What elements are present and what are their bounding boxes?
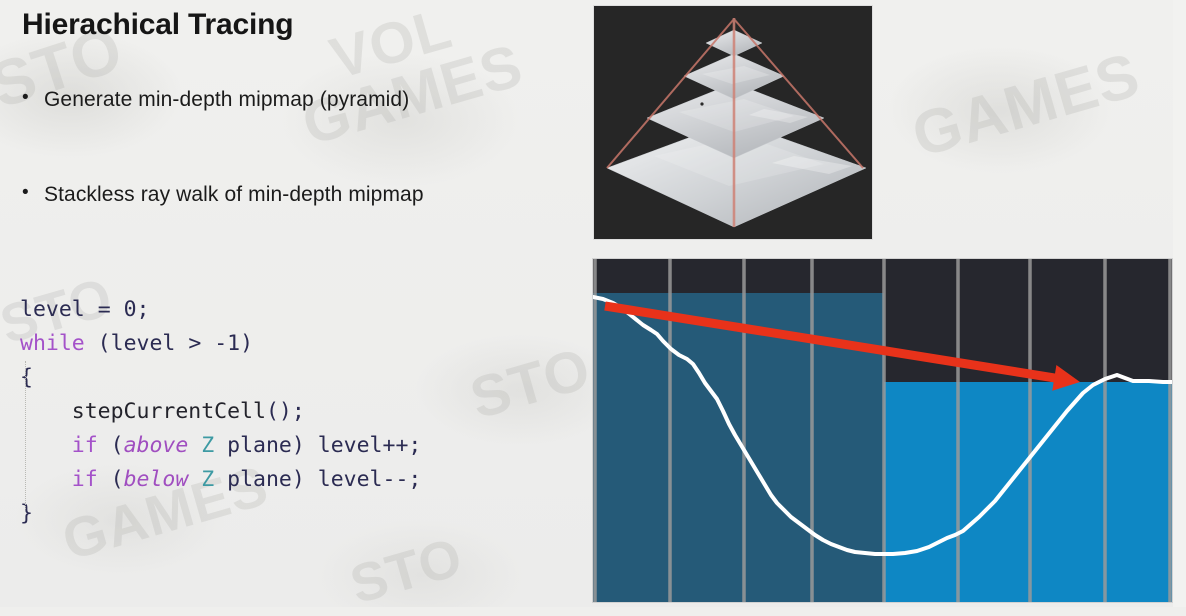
code-token: [201, 331, 214, 356]
code-token: [20, 433, 72, 458]
heightfield-ray-diagram: [593, 259, 1172, 602]
pyramid-illustration: [594, 6, 872, 239]
code-token: (: [98, 467, 124, 492]
bullet-item-1: • Stackless ray walk of min-depth mipmap: [22, 183, 424, 207]
watermark: VOL: [323, 0, 459, 93]
code-token: [188, 467, 201, 492]
code-block: level = 0;while (level > -1){ stepCurren…: [20, 293, 421, 531]
code-token: Z: [201, 433, 214, 458]
code-token: if: [72, 433, 98, 458]
code-token: [111, 297, 124, 322]
code-token: ): [292, 433, 318, 458]
code-line-6: }: [20, 497, 421, 531]
code-token: (: [98, 433, 124, 458]
code-token: ;: [137, 297, 150, 322]
code-token: ): [292, 467, 318, 492]
bullet-marker: •: [22, 183, 44, 203]
code-token: level: [20, 297, 85, 322]
page-title: Hierachical Tracing: [22, 8, 293, 42]
code-token: [85, 297, 98, 322]
code-token: level: [111, 331, 176, 356]
code-token: }: [20, 501, 33, 526]
code-token: [20, 399, 72, 424]
code-token: plane: [214, 467, 292, 492]
bullet-text: Stackless ray walk of min-depth mipmap: [44, 183, 424, 207]
code-token: plane: [214, 433, 292, 458]
code-token: 0: [124, 297, 137, 322]
code-token: ();: [266, 399, 305, 424]
code-line-4: if (above Z plane) level++;: [20, 429, 421, 463]
code-token: ++;: [383, 433, 422, 458]
code-token: below: [124, 467, 189, 492]
code-token: [175, 331, 188, 356]
heightfield-chart: [593, 259, 1172, 602]
code-token: >: [188, 331, 201, 356]
watermark: STO: [463, 335, 598, 433]
code-line-3: stepCurrentCell();: [20, 395, 421, 429]
chart-region-1: [884, 382, 1172, 602]
code-token: [20, 467, 72, 492]
code-token: --;: [383, 467, 422, 492]
code-token: above: [124, 433, 189, 458]
code-line-2: {: [20, 361, 421, 395]
code-token: -1: [214, 331, 240, 356]
bullet-text: Generate min-depth mipmap (pyramid): [44, 88, 409, 112]
code-line-1: while (level > -1): [20, 327, 421, 361]
mipmap-pyramid-image: [594, 6, 872, 239]
code-token: if: [72, 467, 98, 492]
code-token: level: [318, 467, 383, 492]
code-token: [188, 433, 201, 458]
code-token: while: [20, 331, 85, 356]
code-line-5: if (below Z plane) level--;: [20, 463, 421, 497]
bullet-marker: •: [22, 88, 44, 108]
watermark: STO: [344, 526, 470, 616]
frame-right-strip: [1173, 0, 1186, 607]
code-line-0: level = 0;: [20, 293, 421, 327]
slide-canvas: STO GAMES VOL GAMES STO GAMES STO STO Hi…: [0, 0, 1186, 607]
code-token: stepCurrentCell: [72, 399, 266, 424]
code-token: level: [318, 433, 383, 458]
bullet-item-0: • Generate min-depth mipmap (pyramid): [22, 88, 409, 112]
pyramid-marker-dot: [700, 102, 703, 105]
code-token: {: [20, 365, 33, 390]
code-token: =: [98, 297, 111, 322]
code-token: ): [240, 331, 253, 356]
watermark: GAMES: [905, 39, 1148, 171]
code-indent-guide: [25, 361, 26, 509]
code-token: Z: [201, 467, 214, 492]
code-token: (: [85, 331, 111, 356]
